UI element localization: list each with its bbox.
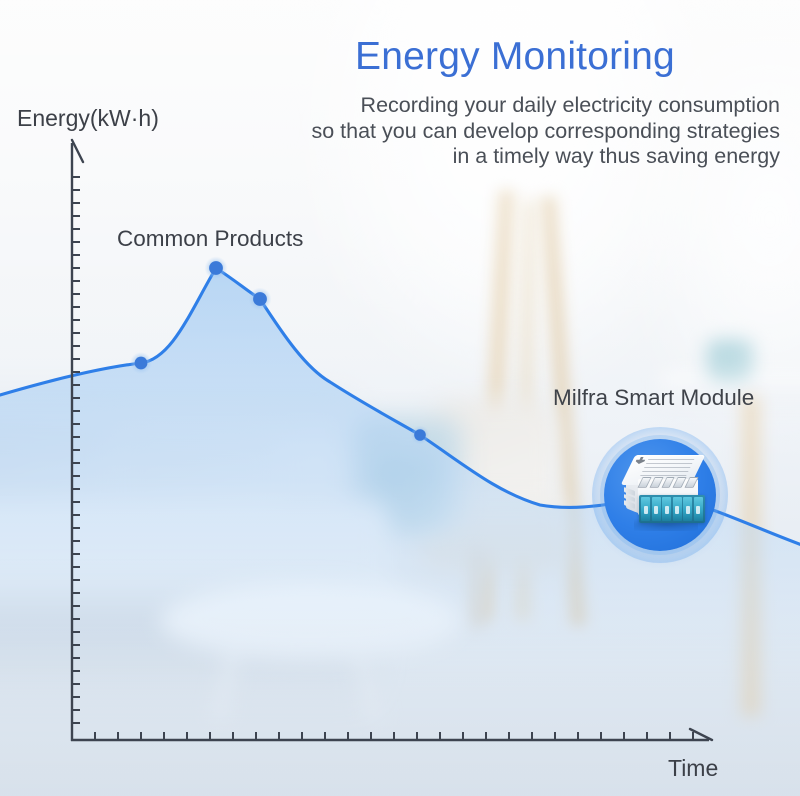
product-label: Milfra Smart Module bbox=[553, 385, 754, 411]
data-point-marker bbox=[411, 426, 430, 445]
smart-module-device-icon bbox=[622, 455, 704, 529]
series-label-common-products: Common Products bbox=[117, 226, 303, 252]
device-screw-terminals bbox=[637, 477, 698, 488]
infographic-canvas: Energy Monitoring Recording your daily e… bbox=[0, 0, 800, 796]
device-printed-text bbox=[640, 459, 695, 477]
product-badge[interactable] bbox=[592, 427, 728, 563]
x-axis-label: Time bbox=[668, 755, 718, 782]
device-side-ports bbox=[624, 487, 635, 509]
device-connector-blocks bbox=[639, 495, 705, 523]
data-point-marker bbox=[205, 257, 228, 280]
y-axis-label: Energy(kW·h) bbox=[17, 105, 159, 132]
data-point-marker bbox=[130, 352, 152, 374]
data-point-marker bbox=[249, 288, 272, 311]
